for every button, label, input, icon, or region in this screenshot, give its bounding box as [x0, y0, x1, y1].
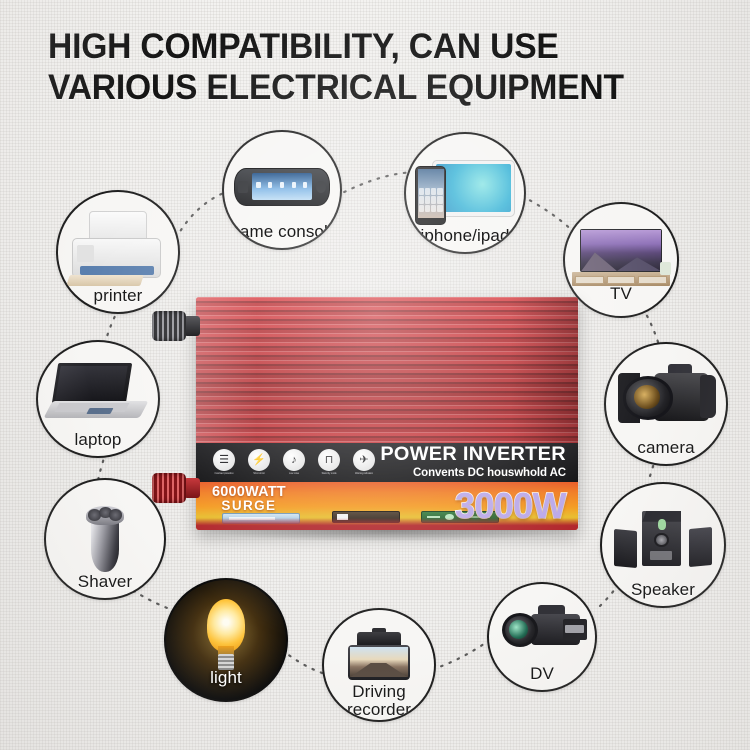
- dark-spec-sticker: [332, 511, 400, 523]
- feature-icon-strip: ☰ Overload protection ⚡ Short circuit ♪ …: [212, 449, 376, 476]
- feature-item-short-circuit: ⚡ Short circuit: [247, 449, 271, 476]
- appliance-bubble-tv[interactable]: TV: [563, 202, 679, 318]
- warning-indication-icon: ✈: [353, 449, 375, 471]
- negative-terminal-nut: [152, 311, 186, 341]
- short-circuit-icon: ⚡: [248, 449, 270, 471]
- negative-terminal-collar: [184, 316, 200, 336]
- brand-block: POWER INVERTER Convents DC houswhold AC: [384, 445, 568, 479]
- appliance-label-printer: printer: [58, 287, 178, 304]
- appliance-label-game-console: Game console: [224, 223, 340, 240]
- appliance-bubble-game-console[interactable]: Game console: [222, 130, 342, 250]
- appliance-label-dv: DV: [489, 665, 595, 682]
- feature-label-overload: Overload protection: [213, 473, 235, 475]
- feature-item-standby: ⊓ Stand by mode: [317, 449, 341, 476]
- feature-item-low-noise: ♪ Low noise: [282, 449, 306, 476]
- low-noise-glyph: ♪: [283, 449, 305, 471]
- green-sticker-tab: [427, 516, 441, 519]
- standby-mode-icon: ⊓: [318, 449, 340, 471]
- page-title: HIGH COMPATIBILITY, CAN USE VARIOUS ELEC…: [48, 26, 701, 109]
- positive-terminal-collar: [184, 478, 200, 498]
- inverter-orange-panel: 6000WATT SURGE 3000W: [196, 482, 578, 530]
- appliance-bubble-printer[interactable]: printer: [56, 190, 180, 314]
- appliance-label-shaver: Shaver: [46, 573, 164, 590]
- appliance-bubble-iphone-ipad[interactable]: iphone/ipad: [404, 132, 526, 254]
- feature-label-standby: Stand by mode: [318, 473, 340, 475]
- appliance-label-tv: TV: [565, 285, 677, 302]
- surge-watt-value: 6000WATT: [212, 485, 286, 499]
- appliance-label-camera: camera: [606, 439, 726, 456]
- blue-spec-sticker: [222, 513, 300, 524]
- dark-sticker-square: [337, 514, 348, 520]
- power-inverter-product[interactable]: ☰ Overload protection ⚡ Short circuit ♪ …: [196, 297, 578, 530]
- appliance-label-light: light: [166, 669, 286, 686]
- appliance-label-iphone-ipad: iphone/ipad: [406, 227, 524, 244]
- inverter-black-band: ☰ Overload protection ⚡ Short circuit ♪ …: [196, 443, 578, 483]
- positive-terminal-nut: [152, 473, 186, 503]
- feature-item-overload: ☰ Overload protection: [212, 449, 236, 476]
- short-circuit-glyph: ⚡: [248, 449, 270, 471]
- surge-word: SURGE: [212, 499, 286, 512]
- feature-label-warning: Warning indication: [353, 473, 375, 475]
- green-sticker-dot: [445, 514, 454, 521]
- appliance-label-driving-recorder: Driving recorder: [324, 683, 434, 718]
- appliance-bubble-camera[interactable]: camera: [604, 342, 728, 466]
- appliance-bubble-light[interactable]: light: [164, 578, 288, 702]
- page-title-line2: VARIOUS ELECTRICAL EQUIPMENT: [48, 67, 701, 108]
- appliance-bubble-dv[interactable]: DV: [487, 582, 597, 692]
- standby-glyph: ⊓: [318, 449, 340, 471]
- page-title-line1: HIGH COMPATIBILITY, CAN USE: [48, 27, 559, 66]
- blue-sticker-bar: [229, 517, 275, 521]
- feature-label-short-circuit: Short circuit: [248, 473, 270, 475]
- appliance-bubble-laptop[interactable]: laptop: [36, 340, 160, 458]
- low-noise-icon: ♪: [283, 449, 305, 471]
- appliance-label-laptop: laptop: [38, 431, 158, 448]
- feature-label-low-noise: Low noise: [283, 473, 305, 475]
- overload-protection-icon: ☰: [213, 449, 235, 471]
- appliance-bubble-driving-recorder[interactable]: Driving recorder: [322, 608, 436, 722]
- driving-recorder-label-text: Driving recorder: [347, 682, 411, 718]
- heatsink-fins: [196, 297, 578, 443]
- brand-title: POWER INVERTER: [380, 445, 566, 465]
- warning-glyph: ✈: [353, 449, 375, 471]
- overload-glyph: ☰: [213, 449, 235, 471]
- feature-item-warning: ✈ Warning indication: [352, 449, 376, 476]
- appliance-label-speaker: Speaker: [602, 581, 724, 598]
- output-wattage: 3000W: [455, 488, 566, 524]
- appliance-bubble-shaver[interactable]: Shaver: [44, 478, 166, 600]
- appliance-bubble-speaker[interactable]: Speaker: [600, 482, 726, 608]
- surge-rating: 6000WATT SURGE: [212, 485, 286, 512]
- brand-subtitle: Convents DC houswhold AC: [384, 468, 566, 480]
- inverter-housing: ☰ Overload protection ⚡ Short circuit ♪ …: [196, 297, 578, 530]
